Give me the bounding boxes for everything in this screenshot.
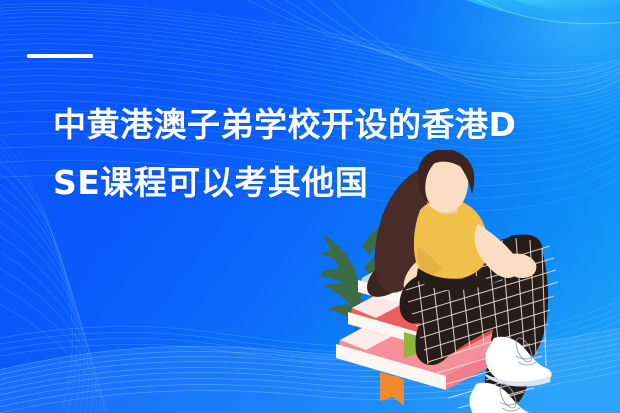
headline-line-2: SE课程可以考其他国: [53, 154, 413, 212]
headline-block: 中黄港澳子弟学校开设的香港D SE课程可以考其他国: [53, 96, 413, 212]
bookmark-orange-icon: [380, 372, 404, 406]
headline-line-1: 中黄港澳子弟学校开设的香港D: [53, 96, 413, 154]
shoe-upper: [485, 336, 551, 387]
accent-dash: [27, 54, 93, 58]
promo-banner: 中黄港澳子弟学校开设的香港D SE课程可以考其他国: [0, 0, 620, 413]
